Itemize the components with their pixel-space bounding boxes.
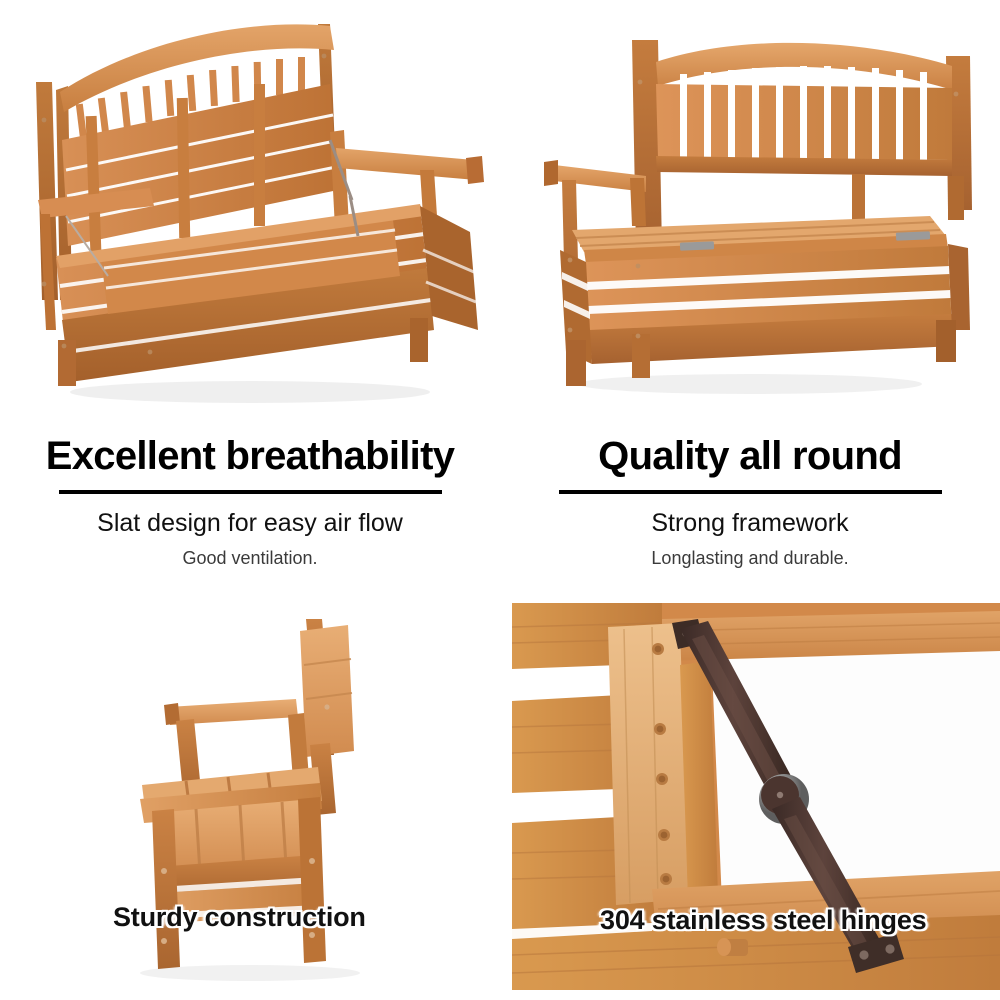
feature-subline-right: Strong framework (500, 494, 1000, 538)
feature-tertiary-left: Good ventilation. (0, 538, 500, 569)
product-infographic: Excellent breathability Slat design for … (0, 0, 1000, 1000)
bench-side-profile-photo: Sturdy construction (0, 595, 500, 1000)
feature-headline-right: Quality all round (500, 420, 1000, 476)
bench-closed-photo (500, 0, 1000, 420)
top-photo-row (0, 0, 1000, 420)
feature-headline-left: Excellent breathability (0, 420, 500, 476)
feature-block-breathability: Excellent breathability Slat design for … (0, 420, 500, 595)
hinge-closeup-photo: 304 stainless steel hinges (512, 603, 1000, 990)
bottom-photo-row: Sturdy construction (0, 595, 1000, 1000)
bench-open-lid-photo (0, 0, 500, 420)
caption-sturdy-construction: Sturdy construction (113, 902, 366, 933)
caption-stainless-hinges: 304 stainless steel hinges (600, 905, 926, 936)
feature-block-quality: Quality all round Strong framework Longl… (500, 420, 1000, 595)
feature-text-band: Excellent breathability Slat design for … (0, 420, 1000, 595)
feature-subline-left: Slat design for easy air flow (0, 494, 500, 538)
feature-tertiary-right: Longlasting and durable. (500, 538, 1000, 569)
